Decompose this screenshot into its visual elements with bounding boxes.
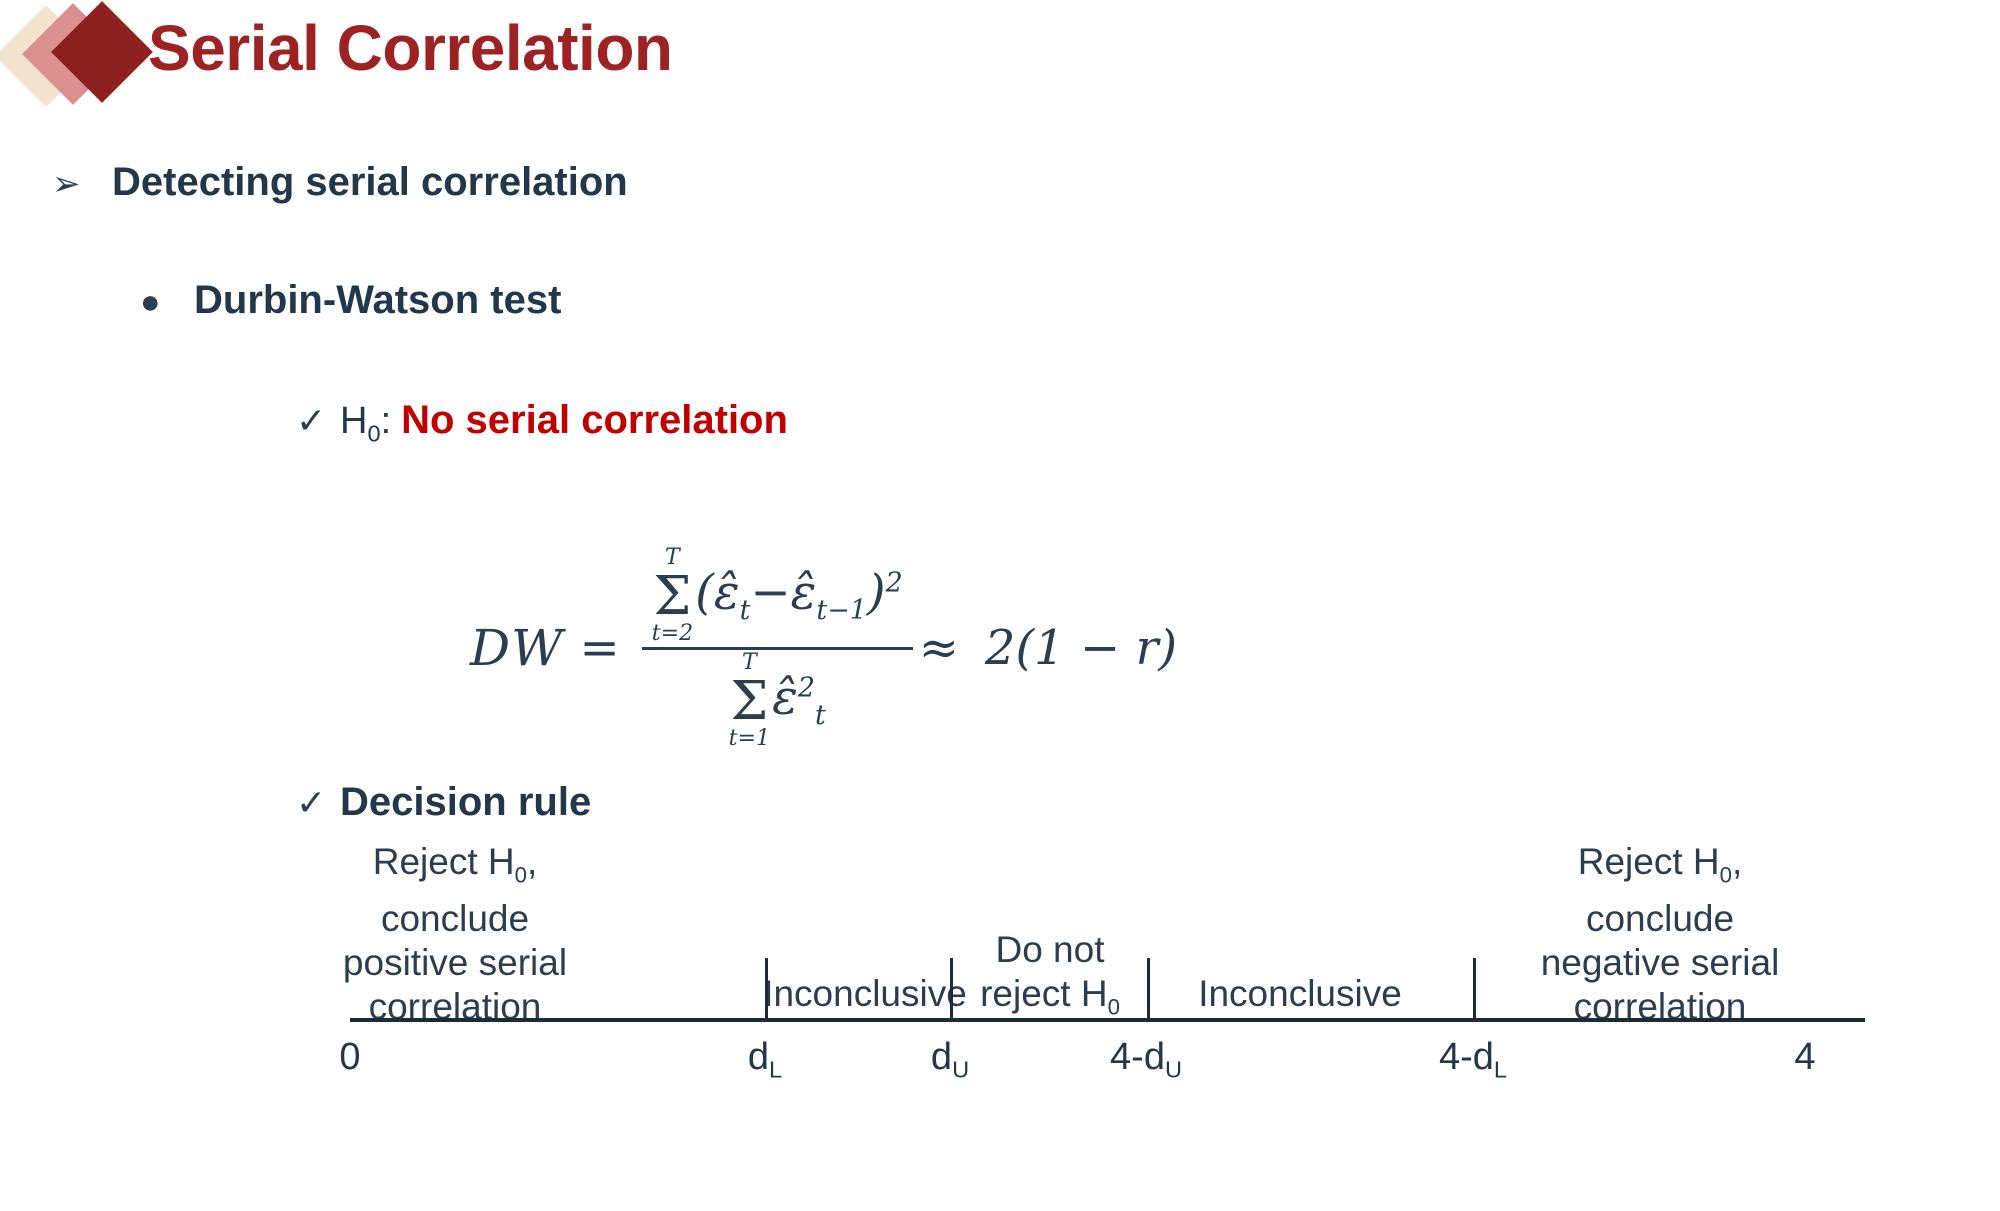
- tick-label-sub: U: [1165, 1057, 1182, 1083]
- numerator-term2-sub: t−1: [816, 595, 866, 626]
- tick-label-main: d: [931, 1036, 952, 1078]
- formula-equals: =: [579, 620, 619, 676]
- checkmark-bullet-icon: ✓: [296, 782, 340, 824]
- tick-label-dl: dL: [705, 1036, 825, 1084]
- numerator-close-paren: ): [867, 564, 886, 620]
- bullet-level2-label: Durbin-Watson test: [194, 278, 561, 323]
- tick-label-main: 4-d: [1439, 1036, 1494, 1078]
- tick-label-du: dU: [890, 1036, 1010, 1084]
- sigma-glyph: Σ: [653, 569, 691, 623]
- tick-label-main: 4: [1794, 1036, 1815, 1078]
- numerator-term1-sub: t: [740, 595, 751, 626]
- zone-line1: Reject H: [373, 841, 515, 882]
- tick-mark-dl: [765, 958, 768, 1018]
- formula-rhs: 2(1 − r): [985, 620, 1177, 676]
- tick-label-main: 4-d: [1110, 1036, 1165, 1078]
- bullet-level1: ➢ Detecting serial correlation: [52, 160, 628, 205]
- denominator-lower-limit: t=1: [729, 728, 770, 750]
- numerator-lower-limit: t=2: [652, 623, 693, 645]
- tick-label-sub: L: [769, 1057, 782, 1083]
- tick-label-sub: L: [1494, 1057, 1507, 1083]
- zone-line1-sub: 0: [515, 862, 527, 887]
- numerator-term2: ε̂: [791, 564, 817, 620]
- null-hypothesis-statement: No serial correlation: [401, 398, 788, 443]
- numerator-term1: ε̂: [714, 564, 740, 620]
- h-symbol: H: [340, 400, 367, 442]
- tick-label-0: 0: [290, 1036, 410, 1084]
- numerator-sigma: TΣt=2: [652, 547, 693, 645]
- bullet-level3-decision-rule: ✓ Decision rule: [296, 780, 591, 825]
- formula-denominator: TΣt=1ε̂2t: [719, 650, 836, 752]
- tick-label-main: d: [748, 1036, 769, 1078]
- formula-lhs: DW: [470, 619, 563, 677]
- sigma-glyph: Σ: [730, 674, 768, 728]
- tick-mark-4dl: [1473, 958, 1476, 1018]
- denominator-term: ε̂: [772, 669, 798, 725]
- denominator-sigma: TΣt=1: [729, 652, 770, 750]
- slide-header: Serial Correlation: [0, 0, 2000, 115]
- axis-line: [350, 1018, 1865, 1022]
- null-hypothesis-label: H0:: [340, 400, 391, 448]
- tick-label-main: 0: [339, 1036, 360, 1078]
- zone-line3: positive serial: [343, 942, 567, 983]
- checkmark-bullet-icon: ✓: [296, 400, 340, 442]
- bullet-level2: ● Durbin-Watson test: [140, 278, 561, 323]
- zone-do-not-reject: Do notreject H0: [950, 928, 1150, 1029]
- zone-line2-sub: 0: [1108, 994, 1120, 1019]
- bullet-level1-label: Detecting serial correlation: [112, 160, 628, 205]
- zone-line2: conclude: [381, 898, 529, 939]
- h-subscript: 0: [367, 421, 380, 447]
- formula-fraction: TΣt=2(ε̂t−ε̂t−1)2 TΣt=1ε̂2t: [642, 545, 913, 752]
- numerator-open-paren: (: [695, 564, 714, 620]
- zone-reject-negative: Reject H0,concludenegative serialcorrela…: [1460, 840, 1860, 1029]
- tick-label-4dl: 4-dL: [1393, 1036, 1553, 1084]
- decision-rule-label: Decision rule: [340, 780, 591, 825]
- diamond-logo: [8, 4, 148, 106]
- decision-rule-scale: Reject H0,concludepositive serialcorrela…: [350, 840, 1865, 1110]
- page-title: Serial Correlation: [148, 0, 673, 96]
- tick-mark-4du: [1147, 958, 1150, 1018]
- tick-label-sub: U: [952, 1057, 969, 1083]
- zone-inconclusive-right: Inconclusive: [1160, 972, 1440, 1016]
- arrow-bullet-icon: ➢: [52, 164, 112, 204]
- tick-mark-du: [950, 958, 953, 1018]
- zone-line1-sub: 0: [1720, 862, 1732, 887]
- zone-line1-tail: ,: [527, 841, 537, 882]
- tick-label-4: 4: [1745, 1036, 1865, 1084]
- zone-line2: conclude: [1586, 898, 1734, 939]
- zone-line1: Do not: [995, 929, 1104, 970]
- zone-reject-positive: Reject H0,concludepositive serialcorrela…: [290, 840, 620, 1029]
- denominator-term-sub: t: [815, 700, 826, 731]
- durbin-watson-formula: DW = TΣt=2(ε̂t−ε̂t−1)2 TΣt=1ε̂2t ≈ 2(1 −…: [470, 545, 1177, 752]
- formula-numerator: TΣt=2(ε̂t−ε̂t−1)2: [642, 545, 913, 647]
- zone-line2: reject H: [980, 973, 1107, 1014]
- numerator-power: 2: [886, 567, 903, 598]
- numerator-minus: −: [750, 564, 790, 620]
- zone-line1-tail: ,: [1732, 841, 1742, 882]
- formula-approx-sign: ≈: [919, 620, 959, 676]
- zone-line3: negative serial: [1541, 942, 1780, 983]
- round-bullet-icon: ●: [140, 285, 194, 319]
- h-colon: :: [381, 400, 392, 442]
- tick-label-4du: 4-dU: [1066, 1036, 1226, 1084]
- bullet-level3-hypothesis: ✓ H0: No serial correlation: [296, 398, 788, 448]
- zone-line1: Reject H: [1578, 841, 1720, 882]
- denominator-term-sup: 2: [798, 672, 815, 703]
